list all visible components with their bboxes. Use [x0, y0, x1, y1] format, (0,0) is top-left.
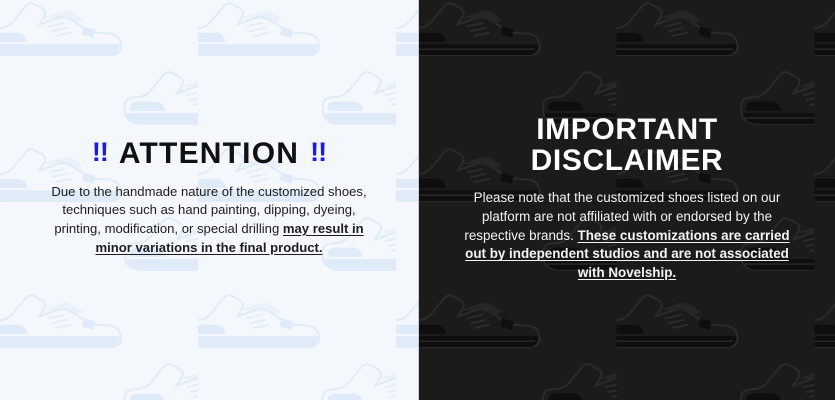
attention-title: ATTENTION — [119, 139, 299, 169]
attention-body: Due to the handmade nature of the custom… — [44, 183, 374, 257]
disclaimer-title-line2: DISCLAIMER — [457, 146, 797, 177]
attention-content: !! ATTENTION !! Due to the handmade natu… — [44, 139, 374, 261]
disclaimer-banner: !! ATTENTION !! Due to the handmade natu… — [0, 0, 835, 400]
disclaimer-panel: IMPORTANT DISCLAIMER Please note that th… — [418, 0, 835, 400]
bang-right-icon: !! — [310, 139, 326, 166]
disclaimer-heading: IMPORTANT DISCLAIMER — [457, 115, 797, 176]
attention-heading: !! ATTENTION !! — [44, 139, 374, 169]
bang-left-icon: !! — [92, 139, 108, 166]
disclaimer-title-line1: IMPORTANT — [457, 115, 797, 146]
disclaimer-content: IMPORTANT DISCLAIMER Please note that th… — [457, 115, 797, 285]
attention-panel: !! ATTENTION !! Due to the handmade natu… — [0, 0, 418, 400]
disclaimer-body: Please note that the customized shoes li… — [457, 189, 797, 283]
